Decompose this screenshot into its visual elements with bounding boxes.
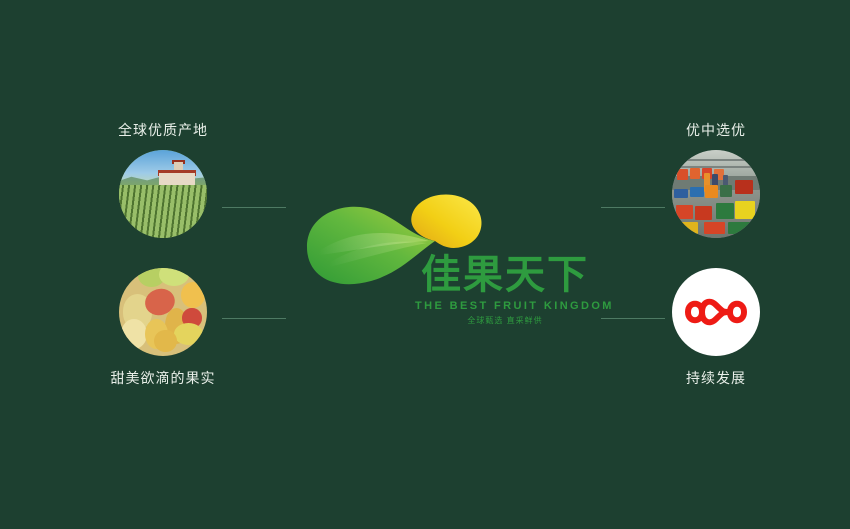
node-label-sweet-fruit: 甜美欲滴的果实 <box>83 368 243 388</box>
conveyor-right <box>690 187 704 197</box>
fruit-mango <box>181 282 206 308</box>
logo-title-en: THE BEST FRUIT KINGDOM <box>415 299 595 313</box>
crate-red-3 <box>735 180 753 194</box>
crate-yellow-2 <box>677 222 698 234</box>
node-label-best-selection: 优中选优 <box>636 120 796 140</box>
photo-fruits <box>119 268 207 356</box>
crate-red-5 <box>695 206 713 220</box>
crate-red-4 <box>676 205 694 219</box>
crate-yellow-1 <box>735 201 754 219</box>
crate-orange-3 <box>705 185 717 197</box>
brand-diagram-canvas: 全球优质产地 甜美欲滴的果实 优中选优 <box>0 0 850 529</box>
infinity-icon <box>672 268 760 356</box>
vineyard-rows <box>119 185 207 238</box>
conveyor-left <box>674 189 688 198</box>
crate-green-3 <box>728 222 751 234</box>
photo-market <box>672 150 760 238</box>
node-label-global-origin: 全球优质产地 <box>83 120 243 140</box>
photo-vineyard <box>119 150 207 238</box>
warehouse-beam-2 <box>672 166 760 168</box>
node-global-origin[interactable]: 全球优质产地 <box>83 120 243 238</box>
node-sustainable[interactable]: 持续发展 <box>636 268 796 388</box>
crate-red-1 <box>677 169 688 180</box>
warehouse-beam-1 <box>672 159 760 161</box>
logo-title-cn: 佳果天下 <box>415 253 595 297</box>
fruit-cantaloupe <box>121 319 147 349</box>
brand-logo: 佳果天下 THE BEST FRUIT KINGDOM 全球甄选 直采鲜供 <box>295 185 595 345</box>
fruit-grapes-2 <box>159 268 189 286</box>
logo-tagline: 全球甄选 直采鲜供 <box>415 315 595 327</box>
fruit-orange <box>154 330 177 353</box>
fruit-pear <box>174 323 204 346</box>
node-label-sustainable: 持续发展 <box>636 368 796 388</box>
crate-green-1 <box>720 185 732 196</box>
crate-green-2 <box>716 203 734 219</box>
logo-wordmark: 佳果天下 THE BEST FRUIT KINGDOM 全球甄选 直采鲜供 <box>415 253 595 327</box>
crate-orange-1 <box>690 168 701 179</box>
crate-red-6 <box>704 222 725 234</box>
node-sweet-fruit[interactable]: 甜美欲滴的果实 <box>83 268 243 388</box>
node-best-selection[interactable]: 优中选优 <box>636 120 796 238</box>
